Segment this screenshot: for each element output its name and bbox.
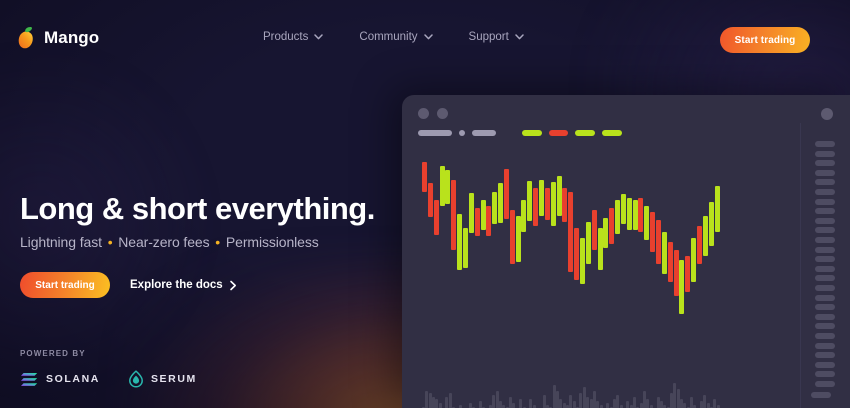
candle-down (574, 228, 579, 280)
header-start-trading-button[interactable]: Start trading (720, 27, 810, 53)
candle-down (434, 200, 439, 235)
window-controls (418, 108, 448, 119)
orderbook-row-pill (815, 151, 835, 157)
volume-bar (586, 397, 589, 408)
orderbook-row-pill (815, 275, 835, 281)
toolbar-pill (549, 130, 568, 136)
volume-bar (529, 399, 532, 408)
toolbar-pill (459, 130, 465, 136)
candle-down (451, 180, 456, 250)
app-toolbar (418, 130, 622, 136)
candle-up (580, 238, 585, 284)
toolbar-pill (472, 130, 496, 136)
candle-up (715, 186, 720, 232)
orderbook-row-pill (815, 381, 835, 387)
hero-subheadline: Lightning fast • Near-zero fees • Permis… (20, 234, 420, 250)
volume-bar (425, 391, 428, 408)
solana-logo-icon (20, 372, 39, 387)
candle-down (486, 206, 491, 236)
site-header: Mango ProductsCommunitySupport Start tra… (0, 0, 850, 80)
candle-up (615, 200, 620, 234)
candle-down (650, 212, 655, 252)
candle-down (562, 188, 567, 222)
hero-headline: Long & short everything. (20, 192, 420, 225)
explore-docs-label: Explore the docs (130, 279, 223, 291)
candle-down (697, 226, 702, 264)
candle-up (598, 228, 603, 270)
orderbook-row-pill (815, 295, 835, 301)
volume-bar (713, 399, 716, 408)
candle-up (539, 180, 544, 216)
candle-up (440, 166, 445, 206)
hero-sub-part-3: Permissionless (226, 234, 319, 250)
toolbar-pill (602, 130, 622, 136)
orderbook-row-pill (815, 333, 835, 339)
candle-up (469, 193, 474, 233)
powered-by-section: POWERED BY SOLANA (20, 349, 197, 388)
orderbook-row-pill (815, 141, 835, 147)
candle-up (516, 216, 521, 262)
candle-down (656, 220, 661, 264)
candle-up (627, 198, 632, 230)
volume-bar (606, 403, 609, 408)
candle-up (644, 206, 649, 240)
candle-up (662, 232, 667, 274)
volume-bar (579, 393, 582, 408)
orderbook-row-pill (815, 314, 835, 320)
powered-by-label: POWERED BY (20, 349, 197, 358)
candle-down (545, 188, 550, 220)
hero-actions: Start trading Explore the docs (20, 272, 420, 298)
candle-up (621, 194, 626, 224)
candle-up (463, 228, 468, 268)
orderbook-row-pill (815, 285, 835, 291)
volume-bar (646, 399, 649, 408)
toolbar-pill (522, 130, 542, 136)
volume-bar (683, 403, 686, 408)
candle-down (592, 210, 597, 250)
window-avatar-icon (821, 108, 833, 120)
nav-item-label: Community (359, 31, 417, 43)
candle-down (568, 192, 573, 272)
nav-item-support[interactable]: Support (469, 31, 524, 43)
orderbook-row-pill (815, 189, 835, 195)
orderbook-row-pill (815, 323, 835, 329)
candle-down (609, 208, 614, 244)
hero-sub-part-1: Lightning fast (20, 234, 102, 250)
orderbook-row-pill (815, 247, 835, 253)
hero-start-trading-button[interactable]: Start trading (20, 272, 110, 298)
brand-name: Mango (44, 28, 99, 48)
candle-up (498, 183, 503, 223)
candle-up (551, 182, 556, 226)
candle-down (668, 242, 673, 282)
candle-down (475, 208, 480, 236)
toolbar-pill (418, 130, 452, 136)
orderbook-row-pill (815, 343, 835, 349)
orderbook-row-pill (815, 352, 835, 358)
orderbook-row-pill (815, 362, 835, 368)
nav-item-products[interactable]: Products (263, 31, 323, 43)
volume-bar (439, 403, 442, 408)
hero-sub-separator: • (213, 234, 222, 250)
chevron-down-icon (515, 34, 524, 40)
hero-sub-part-2: Near-zero fees (118, 234, 209, 250)
orderbook-row-pill (815, 160, 835, 166)
volume-bar (492, 395, 495, 408)
volume-bar (569, 395, 572, 408)
candle-down (428, 183, 433, 217)
candlestick-chart (418, 150, 802, 365)
volume-bar (559, 399, 562, 408)
brand-logo[interactable]: Mango (16, 26, 99, 50)
hero-section: Long & short everything. Lightning fast … (20, 192, 420, 298)
candle-up (557, 176, 562, 216)
candle-down (533, 188, 538, 226)
explore-docs-link[interactable]: Explore the docs (130, 279, 238, 291)
hero-sub-separator: • (106, 234, 115, 250)
sidebar-footer-pill (811, 392, 831, 398)
partner-serum[interactable]: SERUM (128, 370, 197, 388)
orderbook-sidebar (800, 123, 850, 408)
volume-bar (449, 393, 452, 408)
trading-app-window (402, 95, 850, 408)
volume-bar (512, 403, 515, 408)
candle-down (504, 169, 509, 219)
orderbook-row-pill (815, 208, 835, 214)
partner-solana[interactable]: SOLANA (20, 372, 100, 387)
volume-histogram (418, 365, 802, 408)
orderbook-row-pill (815, 227, 835, 233)
mango-fruit-icon (16, 26, 36, 50)
candle-up (445, 170, 450, 204)
volume-bar (703, 395, 706, 408)
candle-down (510, 210, 515, 264)
volume-bar (626, 401, 629, 408)
serum-droplet-icon (128, 370, 144, 388)
volume-bar (435, 399, 438, 408)
chevron-right-icon (229, 280, 238, 291)
candle-up (679, 260, 684, 314)
window-dot-icon (418, 108, 429, 119)
orderbook-row-pill (815, 170, 835, 176)
orderbook-row-pill (815, 218, 835, 224)
partner-name-solana: SOLANA (46, 373, 100, 385)
orderbook-row-pill (815, 256, 835, 262)
nav-item-label: Support (469, 31, 509, 43)
nav-item-label: Products (263, 31, 308, 43)
volume-bar (616, 395, 619, 408)
candle-up (586, 222, 591, 264)
chevron-down-icon (314, 34, 323, 40)
candle-up (492, 192, 497, 224)
candle-up (691, 238, 696, 282)
candle-up (521, 200, 526, 232)
candle-up (709, 202, 714, 246)
candle-up (633, 200, 638, 230)
volume-bar (596, 401, 599, 408)
main-navigation: ProductsCommunitySupport (263, 31, 524, 43)
orderbook-row-pill (815, 199, 835, 205)
chevron-down-icon (424, 34, 433, 40)
volume-bar (673, 383, 676, 408)
window-dot-icon (437, 108, 448, 119)
orderbook-row-pill (815, 179, 835, 185)
partner-name-serum: SERUM (151, 373, 197, 385)
toolbar-pill (575, 130, 595, 136)
orderbook-row-pill (815, 266, 835, 272)
candle-up (603, 218, 608, 248)
candle-down (638, 198, 643, 232)
orderbook-row-pill (815, 237, 835, 243)
candle-up (703, 216, 708, 256)
candle-up (457, 214, 462, 270)
partner-logos: SOLANA SERUM (20, 370, 197, 388)
orderbook-row-pill (815, 371, 835, 377)
volume-bar (445, 397, 448, 408)
landing-page: Mango ProductsCommunitySupport Start tra… (0, 0, 850, 408)
candle-down (674, 250, 679, 296)
chart-area (418, 150, 802, 408)
candle-up (481, 200, 486, 230)
volume-bar (519, 399, 522, 408)
candle-down (422, 162, 427, 192)
orderbook-row-pill (815, 304, 835, 310)
nav-item-community[interactable]: Community (359, 31, 432, 43)
candle-down (685, 256, 690, 292)
candle-up (527, 181, 532, 221)
